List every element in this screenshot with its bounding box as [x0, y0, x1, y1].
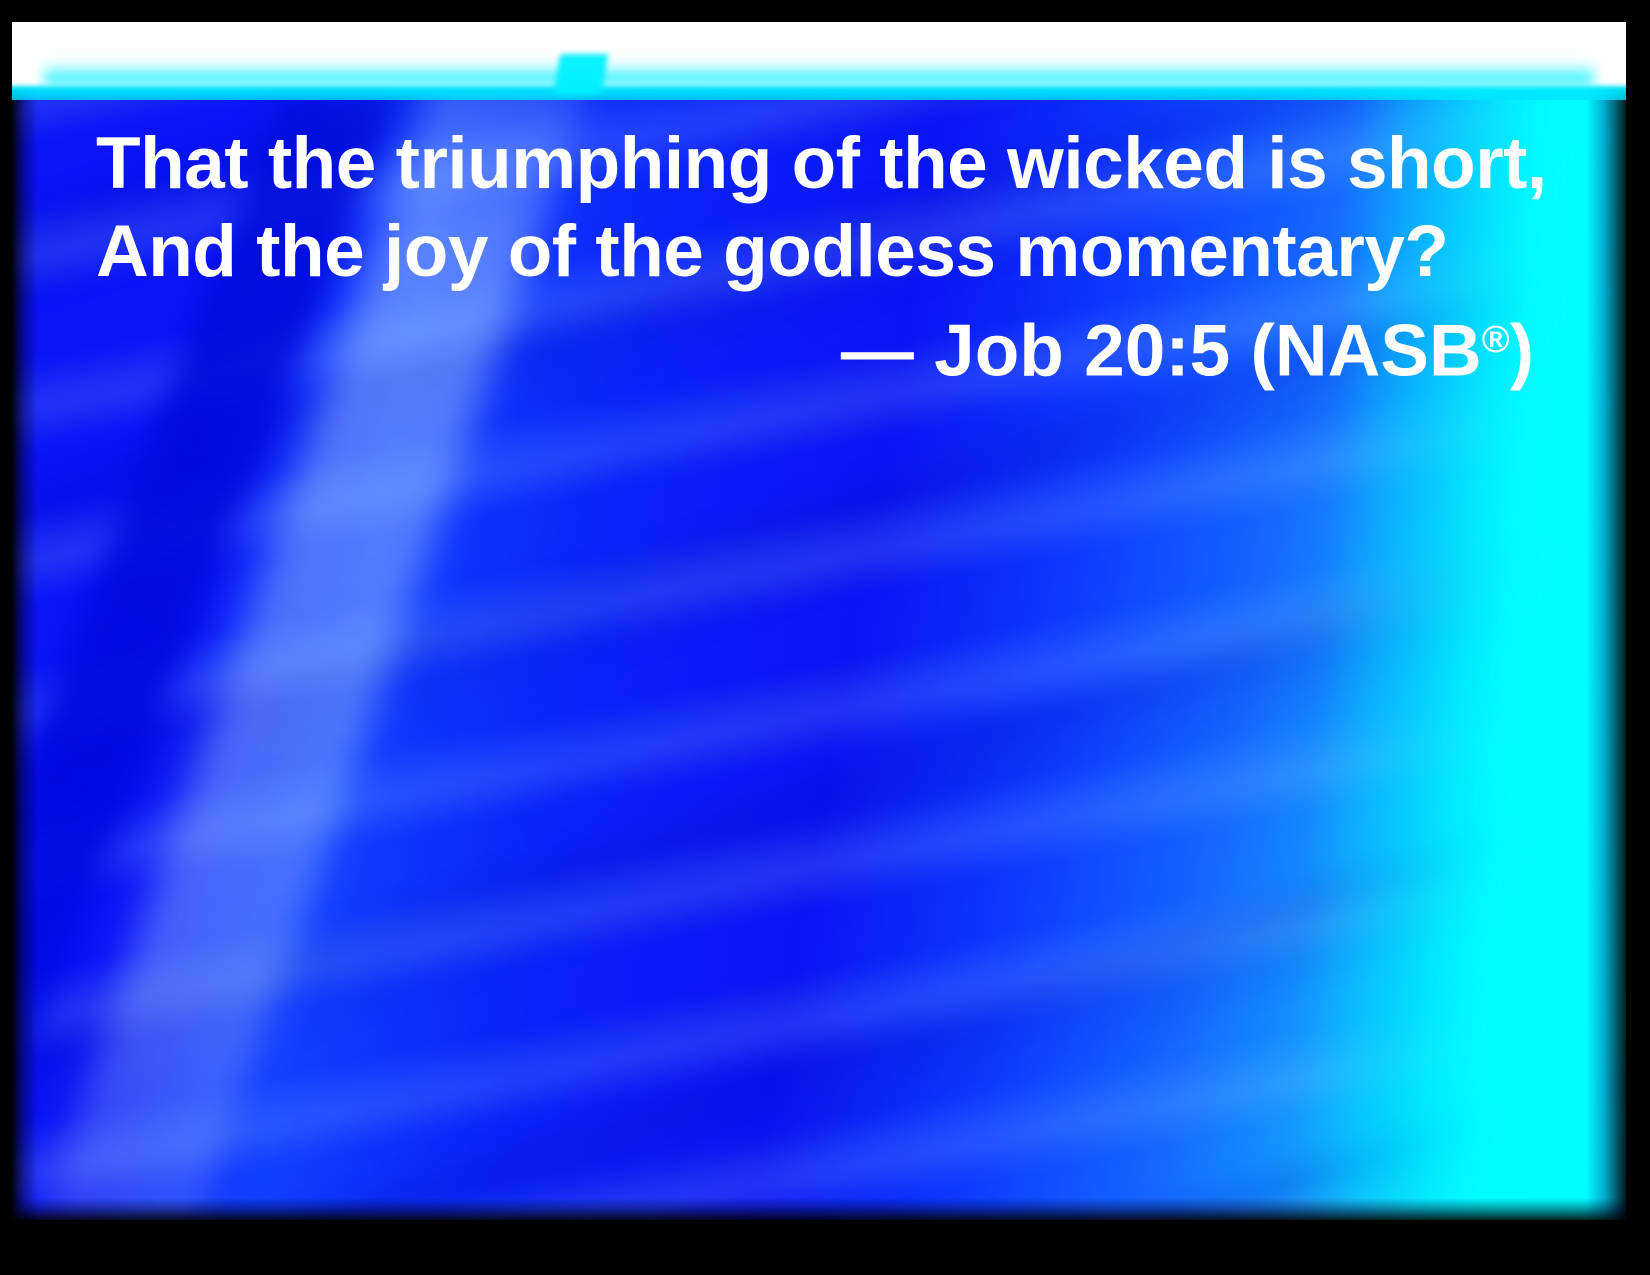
- banner-cyan-underglow: [44, 62, 1593, 88]
- background-right-vignette: [1586, 8, 1626, 1220]
- banner-cyan-notch: [554, 54, 608, 94]
- scripture-slide: That the triumphing of the wicked is sho…: [0, 0, 1650, 1275]
- citation-reference-text: — Job 20:5 (NASB: [841, 311, 1482, 392]
- citation-closing-paren: ): [1510, 311, 1534, 392]
- verse-line-2: And the joy of the godless momentary?: [96, 208, 1556, 296]
- verse-text-block: That the triumphing of the wicked is sho…: [96, 120, 1556, 396]
- background-bottom-vignette: [12, 1198, 1626, 1220]
- registered-trademark-icon: ®: [1482, 319, 1510, 361]
- slide-artwork-canvas: That the triumphing of the wicked is sho…: [12, 8, 1626, 1220]
- top-light-banner: [12, 8, 1626, 100]
- verse-citation: — Job 20:5 (NASB®): [96, 296, 1556, 396]
- background-left-vignette: [12, 8, 38, 1220]
- banner-top-black-frame: [12, 8, 1626, 22]
- verse-line-1: That the triumphing of the wicked is sho…: [96, 120, 1556, 208]
